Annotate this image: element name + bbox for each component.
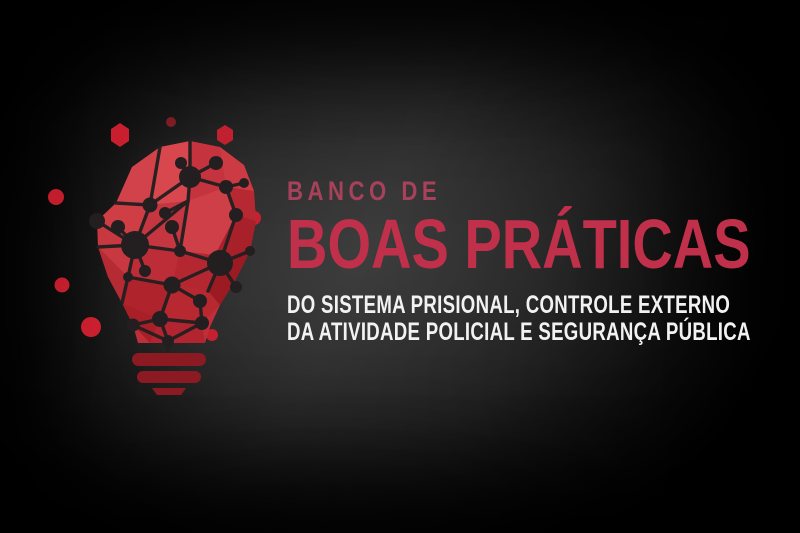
kicker-text: BANCO DE <box>287 176 672 206</box>
logo-banner: BANCO DE BOAS PRÁTICAS DO SISTEMA PRISIO… <box>0 0 800 533</box>
bulb-base <box>132 353 206 395</box>
wordmark: BANCO DE BOAS PRÁTICAS DO SISTEMA PRISIO… <box>287 176 757 346</box>
subtitle: DO SISTEMA PRISIONAL, CONTROLE EXTERNO D… <box>287 292 757 346</box>
subtitle-line-1: DO SISTEMA PRISIONAL, CONTROLE EXTERNO <box>287 292 637 319</box>
subtitle-line-2: DA ATIVIDADE POLICIAL E SEGURANÇA PÚBLIC… <box>287 319 637 346</box>
page-title: BOAS PRÁTICAS <box>287 212 663 276</box>
lightbulb-network-icon <box>40 105 285 395</box>
